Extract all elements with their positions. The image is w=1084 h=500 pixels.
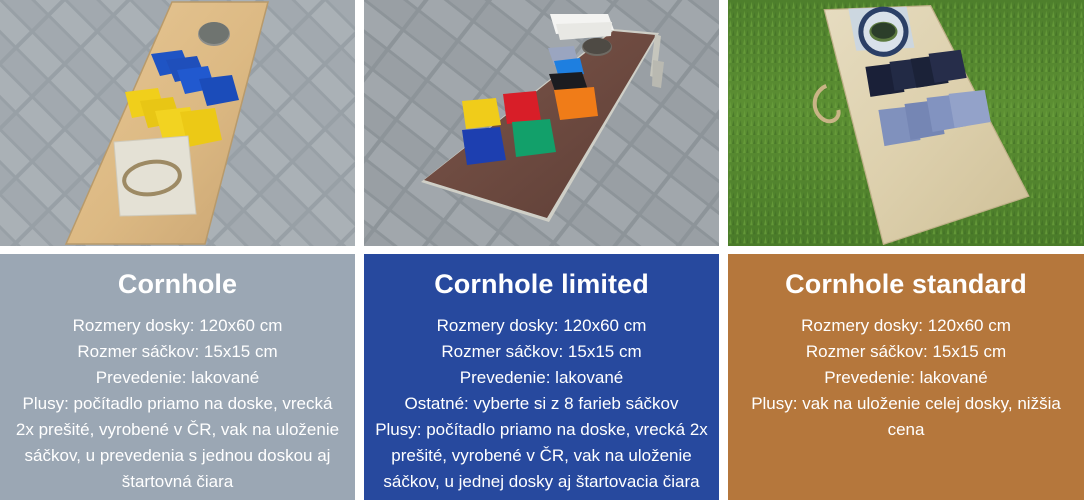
canvas-storage-bag (114, 136, 196, 216)
spec-line-dimensions: Rozmery dosky: 120x60 cm (740, 313, 1072, 339)
spec-line-finish: Prevedenie: lakované (12, 365, 343, 391)
spec-paragraph-plusy: Plusy: počítadlo priamo na doske, vrecká… (12, 391, 343, 495)
card-text-panel: Cornhole Rozmery dosky: 120x60 cm Rozmer… (0, 254, 355, 500)
bag-green (512, 119, 556, 157)
spec-line-finish: Prevedenie: lakované (740, 365, 1072, 391)
photo-art-grass-board (728, 0, 1084, 246)
card-text-panel: Cornhole standard Rozmery dosky: 120x60 … (728, 254, 1084, 500)
card-title: Cornhole limited (370, 268, 713, 300)
spec-line-bag-size: Rozmer sáčkov: 15x15 cm (740, 339, 1072, 365)
spec-line-other: Ostatné: vyberte si z 8 farieb sáčkov (370, 391, 713, 417)
cornhole-limited-board-photo (364, 0, 719, 246)
spec-line-bag-size: Rozmer sáčkov: 15x15 cm (370, 339, 713, 365)
card-text-panel: Cornhole limited Rozmery dosky: 120x60 c… (364, 254, 719, 500)
spec-line-finish: Prevedenie: lakované (370, 365, 713, 391)
product-card-cornhole-limited[interactable]: Cornhole limited Rozmery dosky: 120x60 c… (364, 0, 719, 500)
cornhole-board-on-paving-photo (0, 0, 355, 246)
bag-yellow (462, 98, 501, 129)
spec-paragraph-plusy: Plusy: počítadlo priamo na doske, vrecká… (370, 417, 713, 495)
card-title: Cornhole (12, 268, 343, 300)
card-title: Cornhole standard (740, 268, 1072, 300)
cornhole-standard-board-on-grass-photo (728, 0, 1084, 246)
bag-darkblue (462, 127, 506, 165)
cornhole-variants-grid: Cornhole Rozmery dosky: 120x60 cm Rozmer… (0, 0, 1084, 500)
spec-line-dimensions: Rozmery dosky: 120x60 cm (370, 313, 713, 339)
spec-paragraph-plusy: Plusy: vak na uloženie celej dosky, nižš… (740, 391, 1072, 443)
spec-line-dimensions: Rozmery dosky: 120x60 cm (12, 313, 343, 339)
product-card-cornhole-standard[interactable]: Cornhole standard Rozmery dosky: 120x60 … (728, 0, 1084, 500)
photo-art-paving-light (0, 0, 355, 246)
bag-red (503, 91, 541, 124)
photo-art-paving-dark-board (364, 0, 719, 246)
bag-orange (554, 87, 598, 120)
white-cloth (550, 14, 614, 40)
spec-line-bag-size: Rozmer sáčkov: 15x15 cm (12, 339, 343, 365)
product-card-cornhole[interactable]: Cornhole Rozmery dosky: 120x60 cm Rozmer… (0, 0, 355, 500)
